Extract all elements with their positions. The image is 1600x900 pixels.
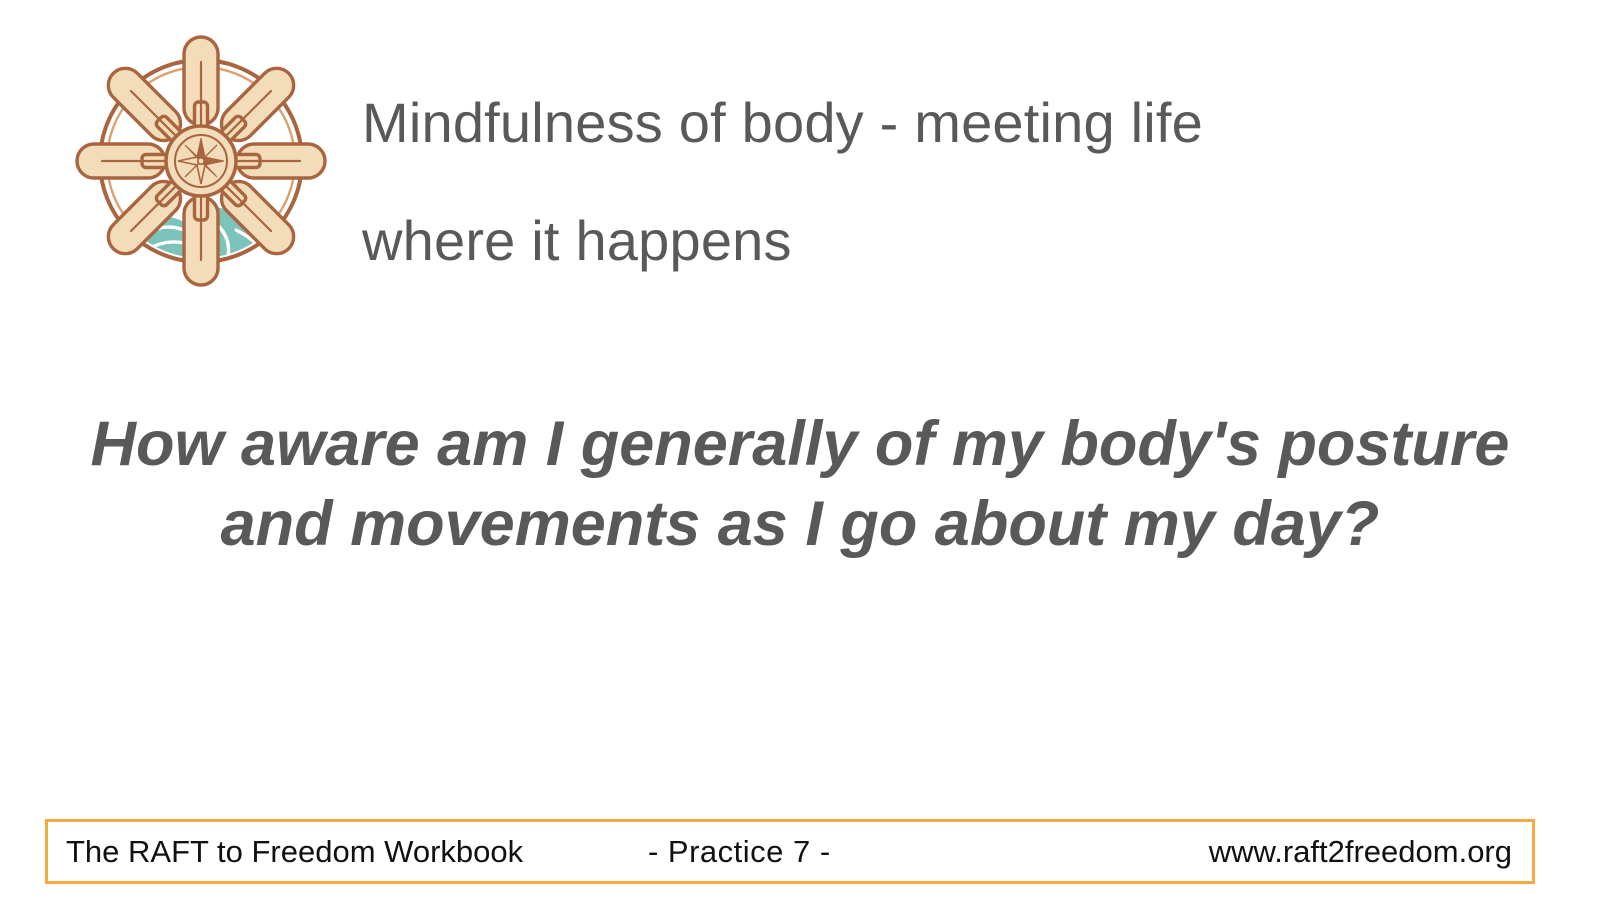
title-line-2: where it happens xyxy=(362,182,1362,300)
footer-website-url[interactable]: www.raft2freedom.org xyxy=(1209,834,1512,870)
footer-practice-number: - Practice 7 - xyxy=(648,834,831,870)
slide-canvas: Mindfulness of body - meeting life where… xyxy=(0,0,1600,900)
footer-bar: The RAFT to Freedom Workbook - Practice … xyxy=(45,819,1535,884)
reflection-question: How aware am I generally of my body's po… xyxy=(90,404,1510,564)
footer-content: The RAFT to Freedom Workbook - Practice … xyxy=(48,822,1532,881)
ship-wheel-icon xyxy=(70,28,332,294)
title-line-1: Mindfulness of body - meeting life xyxy=(362,64,1362,182)
slide-title: Mindfulness of body - meeting life where… xyxy=(362,64,1362,300)
raft-to-freedom-logo xyxy=(70,28,332,294)
footer-workbook-title: The RAFT to Freedom Workbook xyxy=(66,834,523,870)
